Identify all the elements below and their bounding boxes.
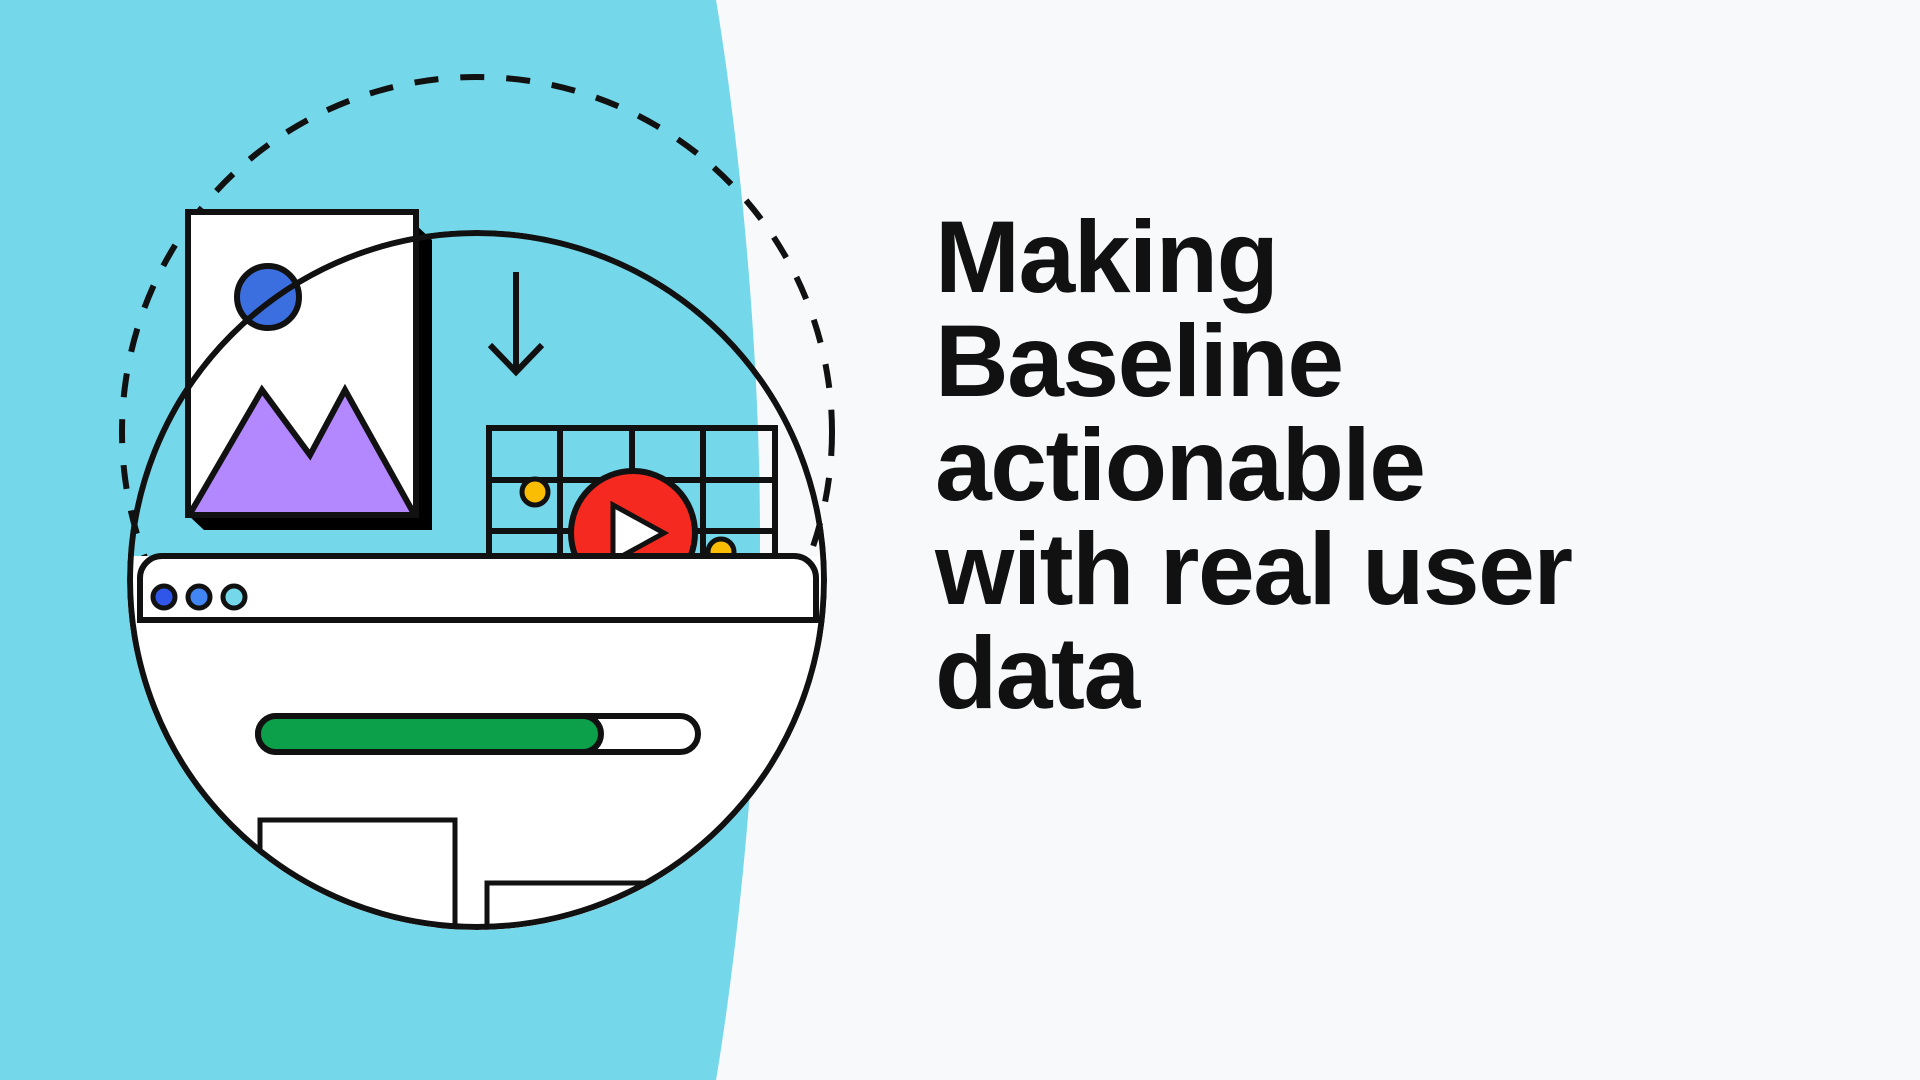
window-dot-3[interactable]	[223, 586, 245, 608]
hero-card: Making Baseline actionable with real use…	[0, 0, 1920, 1080]
grid-node-left-dot	[522, 479, 548, 505]
download-arrow	[490, 272, 542, 372]
window-dot-1[interactable]	[153, 586, 175, 608]
headline-line-2: Baseline	[935, 309, 1785, 413]
headline-line-1: Making	[935, 205, 1785, 309]
content-block-right	[487, 883, 687, 943]
page-title: Making Baseline actionable with real use…	[935, 205, 1785, 725]
headline-line-5: data	[935, 621, 1785, 725]
headline-line-4: with real user	[935, 517, 1785, 621]
window-dot-2[interactable]	[188, 586, 210, 608]
loading-progress-bar	[258, 716, 698, 752]
progress-fill	[258, 716, 601, 752]
headline-line-3: actionable	[935, 413, 1785, 517]
